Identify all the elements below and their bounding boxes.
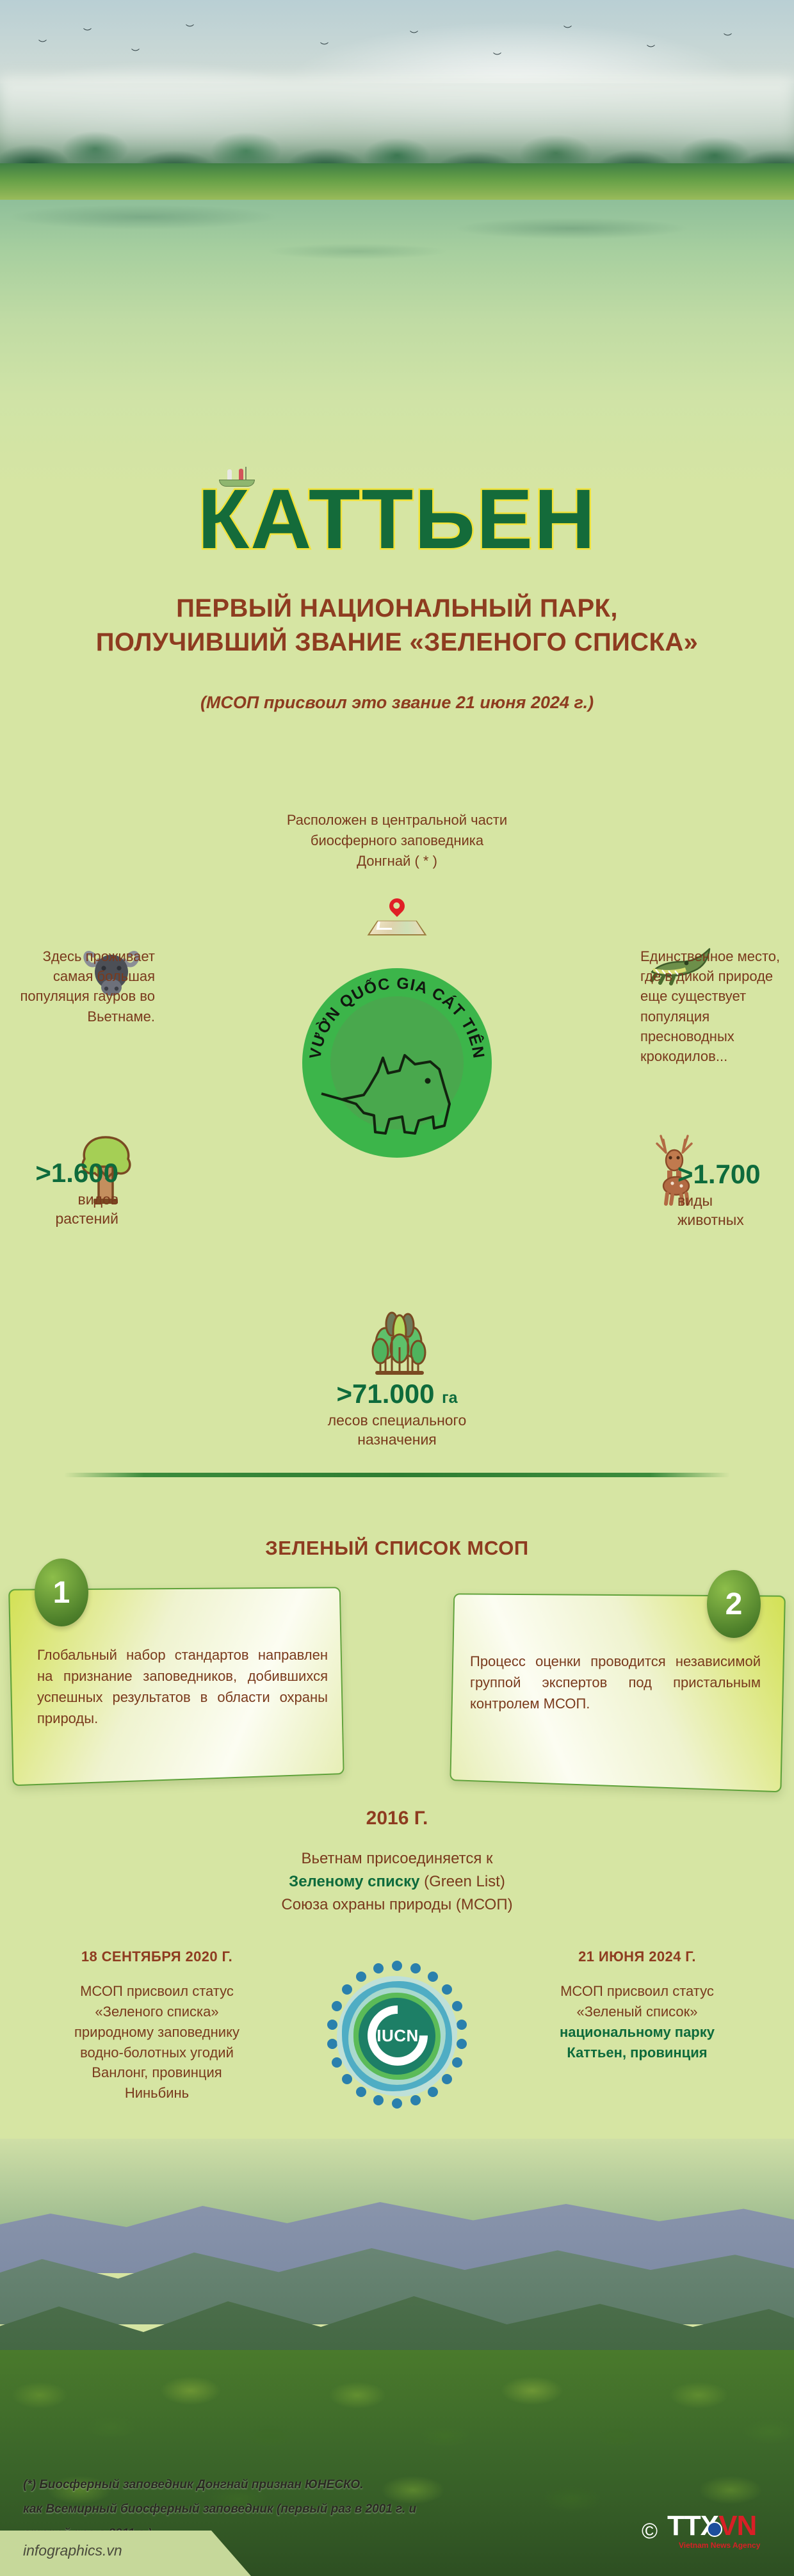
- green-list-card-2: Процесс оценки проводится независимой гр…: [447, 1594, 780, 1786]
- subtitle-line-2: ПОЛУЧИВШИЙ ЗВАНИЕ «ЗЕЛЕНОГО СПИСКА»: [0, 626, 794, 660]
- timeline-join-text: Вьетнам присоединяется к Зеленому списку…: [173, 1847, 621, 1916]
- bird-icon: ︶: [647, 42, 655, 54]
- shore-band: [0, 163, 794, 205]
- stat-plants-value: >1.600: [35, 1158, 118, 1188]
- event-2024-highlight-1: национальному парку: [560, 2024, 715, 2040]
- bird-icon: ︶: [410, 28, 418, 40]
- iucn-logo: IUCN: [320, 1959, 474, 2113]
- stat-animals-value: >1.700: [677, 1159, 761, 1189]
- footnote-line-2: как Всемирный биосферный заповедник (пер…: [23, 2497, 510, 2522]
- card-1-text: Глобальный набор стандартов направлен на…: [37, 1644, 328, 1729]
- title-note: (МСОП присвоил это звание 21 июня 2024 г…: [0, 693, 794, 713]
- lake-layer: [0, 200, 794, 487]
- ttxvn-logo: © TTXVN Vietnam News Agency: [653, 2505, 781, 2556]
- join-line-1: Вьетнам присоединяется к: [173, 1847, 621, 1870]
- map-pin-icon: [373, 900, 421, 942]
- bird-icon: ︶: [83, 26, 92, 38]
- stat-animals: >1.700 виды животных: [677, 1160, 793, 1230]
- fact-crocodile: Единственное место, где в дикой природе …: [640, 946, 790, 1066]
- location-line-2: биосферного заповедника: [218, 830, 576, 851]
- green-list-title: ЗЕЛЕНЫЙ СПИСОК МСОП: [0, 1537, 794, 1560]
- event-2020-line-2: «Зеленого списка»: [6, 2002, 307, 2022]
- stat-animals-label-1: виды: [677, 1191, 793, 1210]
- location-line-1: Расположен в центральной части: [218, 810, 576, 830]
- bird-icon: ︶: [131, 46, 140, 58]
- bird-icon: ︶: [186, 22, 194, 34]
- event-2020-line-5: Ванлонг, провинция: [6, 2062, 307, 2083]
- card-2-number: 2: [707, 1570, 761, 1638]
- event-2020-line-4: водно-болотных угодий: [6, 2043, 307, 2063]
- page-subtitle: ПЕРВЫЙ НАЦИОНАЛЬНЫЙ ПАРК, ПОЛУЧИВШИЙ ЗВА…: [0, 592, 794, 660]
- stat-plants-label-1: видов: [6, 1190, 118, 1209]
- stat-forest-value: >71.000: [337, 1379, 435, 1409]
- timeline-event-2024: 21 ИЮНЯ 2024 Г. МСОП присвоил статус «Зе…: [487, 1947, 788, 2062]
- stat-forest-label-2: назначения: [211, 1430, 583, 1449]
- section-divider: [64, 1473, 730, 1477]
- stat-forest-unit: га: [442, 1389, 457, 1407]
- hero-photo: ︶ ︶ ︶ ︶ ︶ ︶ ︶ ︶ ︶ ︶: [0, 0, 794, 487]
- page-title: КАТТЬЕН: [0, 477, 794, 562]
- park-emblem: VƯỜN QUỐC GIA CÁT TIÊN: [302, 968, 492, 1158]
- timeline-year: 2016 Г.: [0, 1808, 794, 1829]
- forest-icon: [371, 1310, 428, 1377]
- event-2020-date: 18 СЕНТЯБРЯ 2020 Г.: [6, 1947, 307, 1967]
- footer-site-url[interactable]: infographics.vn: [23, 2542, 122, 2559]
- event-2020-line-3: природному заповеднику: [6, 2022, 307, 2043]
- bird-icon: ︶: [493, 50, 501, 62]
- location-line-3: Донгнай ( * ): [218, 851, 576, 871]
- bird-icon: ︶: [320, 40, 328, 52]
- rhino-icon: [302, 968, 492, 1158]
- location-text: Расположен в центральной части биосферно…: [218, 810, 576, 871]
- event-2024-highlight-2: Каттьен, провинция: [567, 2045, 707, 2061]
- agency-mark-accent: VN: [718, 2510, 756, 2541]
- event-2024-line-1: МСОП присвоил статус: [487, 1981, 788, 2002]
- join-highlight: Зеленому списку: [289, 1873, 419, 1890]
- stat-forest-label-1: лесов специального: [211, 1411, 583, 1430]
- join-line-3: Союза охраны природы (МСОП): [173, 1893, 621, 1916]
- join-line-2: Зеленому списку (Green List): [173, 1870, 621, 1893]
- card-2-text: Процесс оценки проводится независимой гр…: [470, 1651, 761, 1714]
- card-1-number: 1: [35, 1559, 88, 1626]
- stat-plants-label-2: растений: [6, 1209, 118, 1228]
- event-2024-line-2: «Зеленый список»: [487, 2002, 788, 2022]
- fact-gaur: Здесь проживает самая большая популяция …: [6, 946, 155, 1026]
- globe-icon: [707, 2522, 722, 2537]
- bird-icon: ︶: [563, 23, 572, 35]
- subtitle-line-1: ПЕРВЫЙ НАЦИОНАЛЬНЫЙ ПАРК,: [0, 592, 794, 626]
- copyright-symbol: ©: [642, 2519, 658, 2544]
- bird-icon: ︶: [724, 31, 732, 43]
- footnote-line-1: (*) Биосферный заповедник Донгнай призна…: [23, 2473, 510, 2497]
- green-list-card-1: Глобальный набор стандартов направлен на…: [14, 1588, 347, 1780]
- timeline-event-2020: 18 СЕНТЯБРЯ 2020 Г. МСОП присвоил статус…: [6, 1947, 307, 2103]
- event-2024-date: 21 ИЮНЯ 2024 Г.: [487, 1947, 788, 1967]
- mist-layer: [0, 77, 794, 154]
- event-2020-line-6: Ниньбинь: [6, 2083, 307, 2103]
- iucn-wordmark: IUCN: [359, 2026, 437, 2046]
- stat-plants: >1.600 видов растений: [6, 1159, 118, 1229]
- event-2020-line-1: МСОП присвоил статус: [6, 1981, 307, 2002]
- stat-animals-label-2: животных: [677, 1210, 793, 1229]
- stat-forest: >71.000 га лесов специального назначения: [211, 1380, 583, 1450]
- bird-icon: ︶: [38, 37, 47, 49]
- join-line-2-rest: (Green List): [419, 1873, 505, 1890]
- agency-tagline: Vietnam News Agency: [679, 2541, 760, 2550]
